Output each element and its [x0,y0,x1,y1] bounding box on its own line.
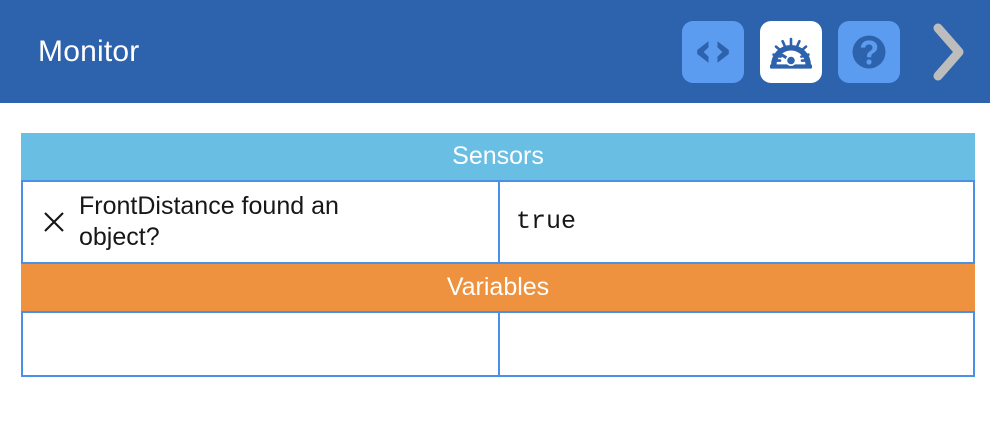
sensor-value-text: true [516,207,576,237]
table-row [21,311,975,377]
section-header-sensors: Sensors [21,133,975,180]
monitor-table: Sensors FrontDistance found an object? t… [21,133,975,377]
next-panel-button[interactable] [920,17,976,87]
code-icon [693,39,733,65]
sensor-name-cell: FrontDistance found an object? [21,180,499,264]
help-icon [849,32,889,72]
variable-value-cell [499,311,975,377]
variable-name-cell [21,311,499,377]
monitor-gauge-button[interactable] [760,21,822,83]
header-actions [682,17,976,87]
help-button[interactable] [838,21,900,83]
gauge-icon [769,35,813,69]
sensor-value-cell: true [499,180,975,264]
sensor-name-label: FrontDistance found an object? [79,191,409,254]
chevron-right-icon [928,20,968,84]
table-row: FrontDistance found an object? true [21,180,975,264]
code-view-button[interactable] [682,21,744,83]
remove-sensor-icon[interactable] [37,209,71,235]
page-title: Monitor [38,37,139,67]
app-header-bar: Monitor [0,0,990,103]
section-header-variables: Variables [21,264,975,311]
close-icon [41,209,67,235]
